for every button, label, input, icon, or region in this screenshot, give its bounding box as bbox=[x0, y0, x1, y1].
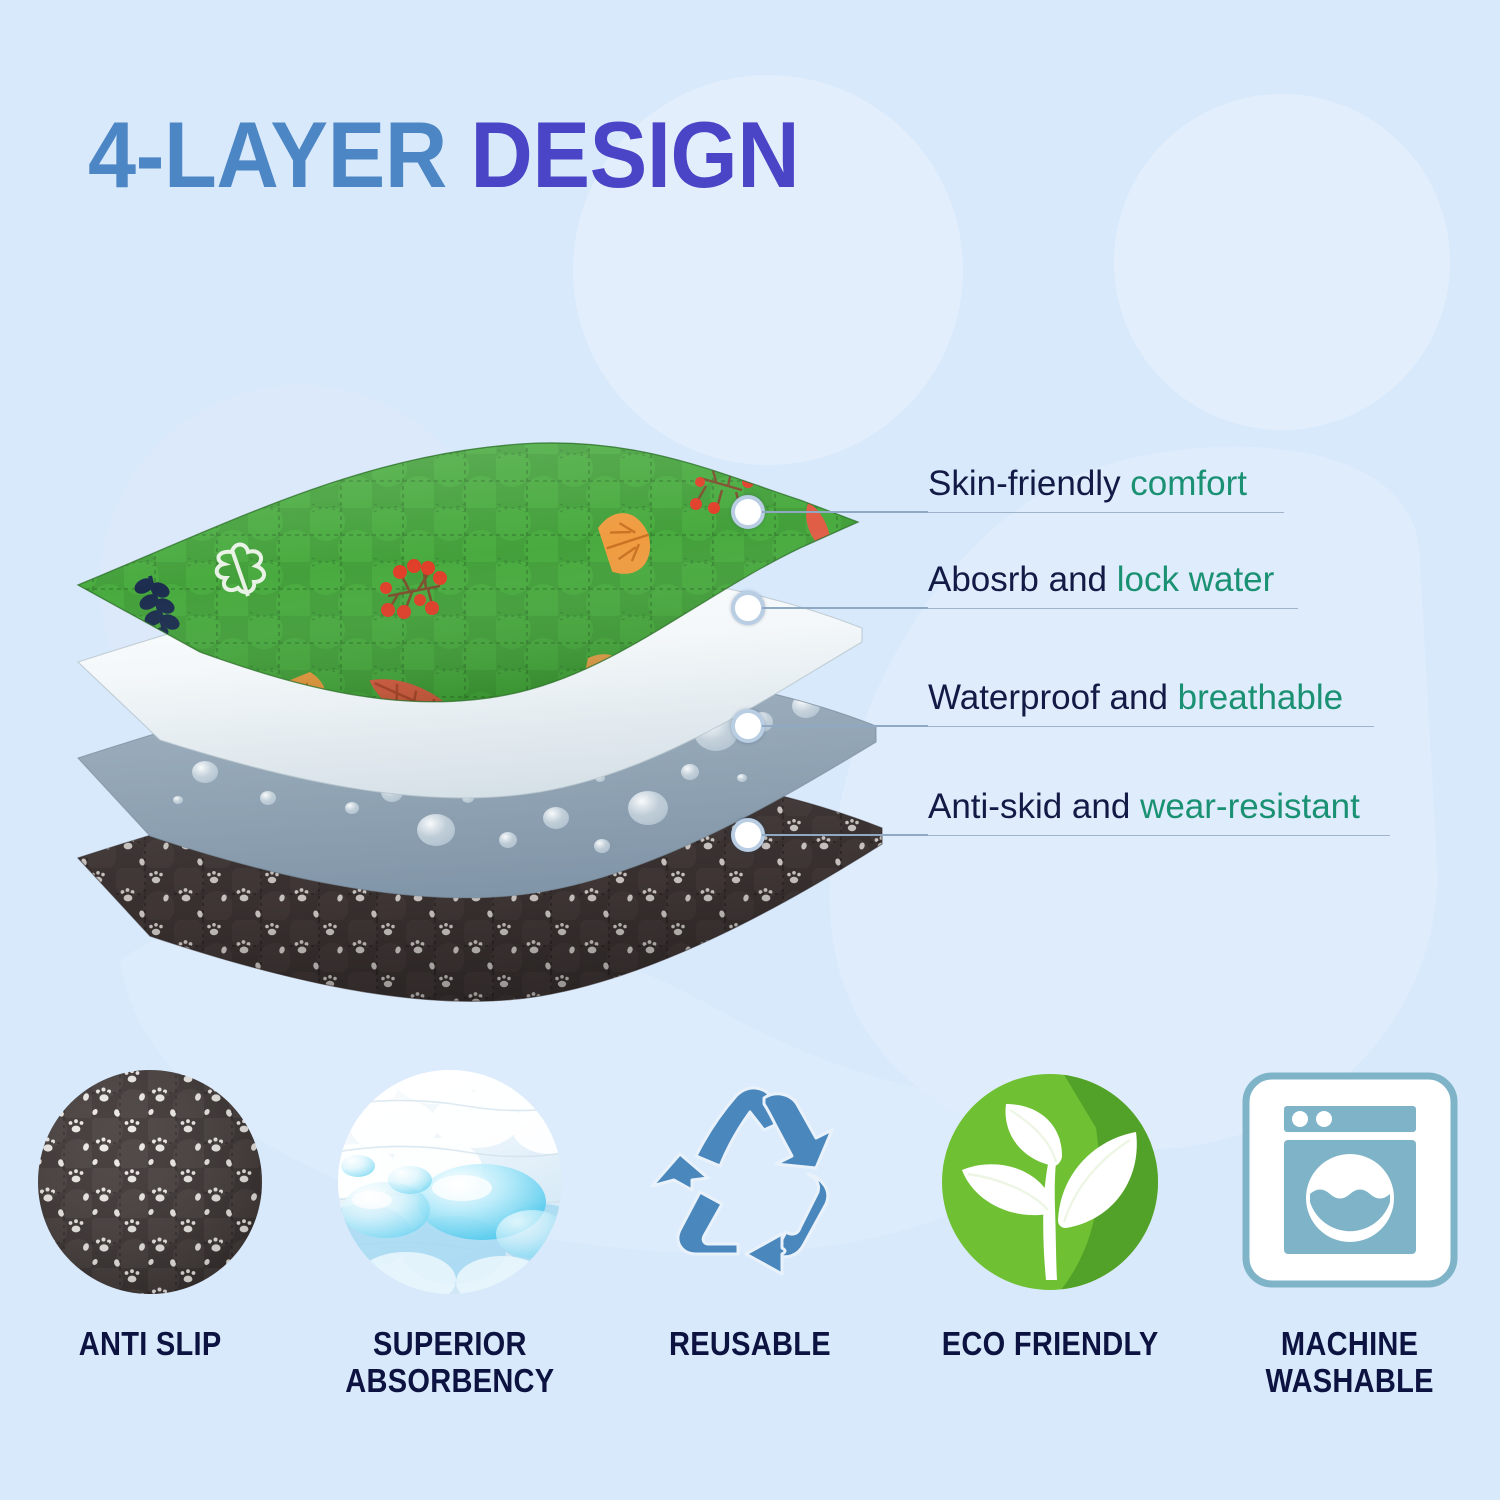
feature-anti-slip[interactable]: ANTI SLIP bbox=[0, 1068, 300, 1363]
callout-rule-waterproof bbox=[928, 726, 1374, 727]
callout-lead-anti-skid: Anti-skid and bbox=[928, 787, 1140, 826]
callout-leader-absorb-lock bbox=[762, 607, 928, 609]
feature-label-anti-slip: ANTI SLIP bbox=[79, 1326, 222, 1363]
callout-lead-absorb-lock: Abosrb and bbox=[928, 560, 1117, 599]
callout-label-anti-skid: Anti-skid and wear-resistant bbox=[928, 789, 1360, 824]
page-title: 4-LAYER DESIGN bbox=[88, 108, 799, 202]
callout-dot-absorb-lock[interactable] bbox=[731, 591, 765, 625]
callout-leader-waterproof bbox=[762, 725, 928, 727]
callout-leader-anti-skid bbox=[762, 834, 928, 836]
title-part-1: 4-LAYER bbox=[88, 102, 447, 207]
washing-machine-icon bbox=[1236, 1068, 1464, 1296]
callout-label-waterproof: Waterproof and breathable bbox=[928, 680, 1343, 715]
callout-label-absorb-lock: Abosrb and lock water bbox=[928, 562, 1274, 597]
layer-stack-diagram bbox=[0, 400, 950, 1060]
leaf-plant-icon bbox=[936, 1068, 1164, 1296]
feature-reusable[interactable]: REUSABLE bbox=[600, 1068, 900, 1363]
feature-label-machine-washable-line2: WASHABLE bbox=[1266, 1363, 1434, 1400]
callout-highlight-skin-friendly: comfort bbox=[1130, 464, 1247, 503]
feature-machine-washable[interactable]: MACHINE WASHABLE bbox=[1200, 1068, 1500, 1400]
feature-label-machine-washable-line1: MACHINE bbox=[1266, 1326, 1434, 1363]
feature-row: ANTI SLIP bbox=[0, 1068, 1500, 1468]
callout-lead-skin-friendly: Skin-friendly bbox=[928, 464, 1130, 503]
callout-rule-skin-friendly bbox=[928, 512, 1284, 513]
callout-lead-waterproof: Waterproof and bbox=[928, 678, 1178, 717]
feature-label-machine-washable: MACHINE WASHABLE bbox=[1266, 1326, 1434, 1400]
callout-highlight-waterproof: breathable bbox=[1178, 678, 1343, 717]
feature-label-absorbency-line2: ABSORBENCY bbox=[345, 1363, 554, 1400]
feature-label-absorbency-line1: SUPERIOR bbox=[345, 1326, 554, 1363]
paw-texture-icon bbox=[36, 1068, 264, 1296]
water-droplet-icon bbox=[336, 1068, 564, 1296]
infographic-page: 4-LAYER DESIGN bbox=[0, 0, 1500, 1500]
callout-label-skin-friendly: Skin-friendly comfort bbox=[928, 466, 1247, 501]
callout-highlight-anti-skid: wear-resistant bbox=[1140, 787, 1360, 826]
feature-label-reusable: REUSABLE bbox=[669, 1326, 831, 1363]
callout-rule-anti-skid bbox=[928, 835, 1390, 836]
feature-absorbency[interactable]: SUPERIOR ABSORBENCY bbox=[300, 1068, 600, 1400]
callout-highlight-absorb-lock: lock water bbox=[1117, 560, 1275, 599]
feature-label-absorbency: SUPERIOR ABSORBENCY bbox=[345, 1326, 554, 1400]
callout-dot-anti-skid[interactable] bbox=[731, 818, 765, 852]
feature-label-eco-friendly: ECO FRIENDLY bbox=[942, 1326, 1159, 1363]
feature-eco-friendly[interactable]: ECO FRIENDLY bbox=[900, 1068, 1200, 1363]
title-part-2: DESIGN bbox=[470, 102, 799, 207]
title-space bbox=[447, 102, 471, 207]
callout-leader-skin-friendly bbox=[762, 511, 928, 513]
callout-dot-skin-friendly[interactable] bbox=[731, 495, 765, 529]
callout-rule-absorb-lock bbox=[928, 608, 1298, 609]
callout-dot-waterproof[interactable] bbox=[731, 709, 765, 743]
recycle-icon bbox=[636, 1068, 864, 1296]
